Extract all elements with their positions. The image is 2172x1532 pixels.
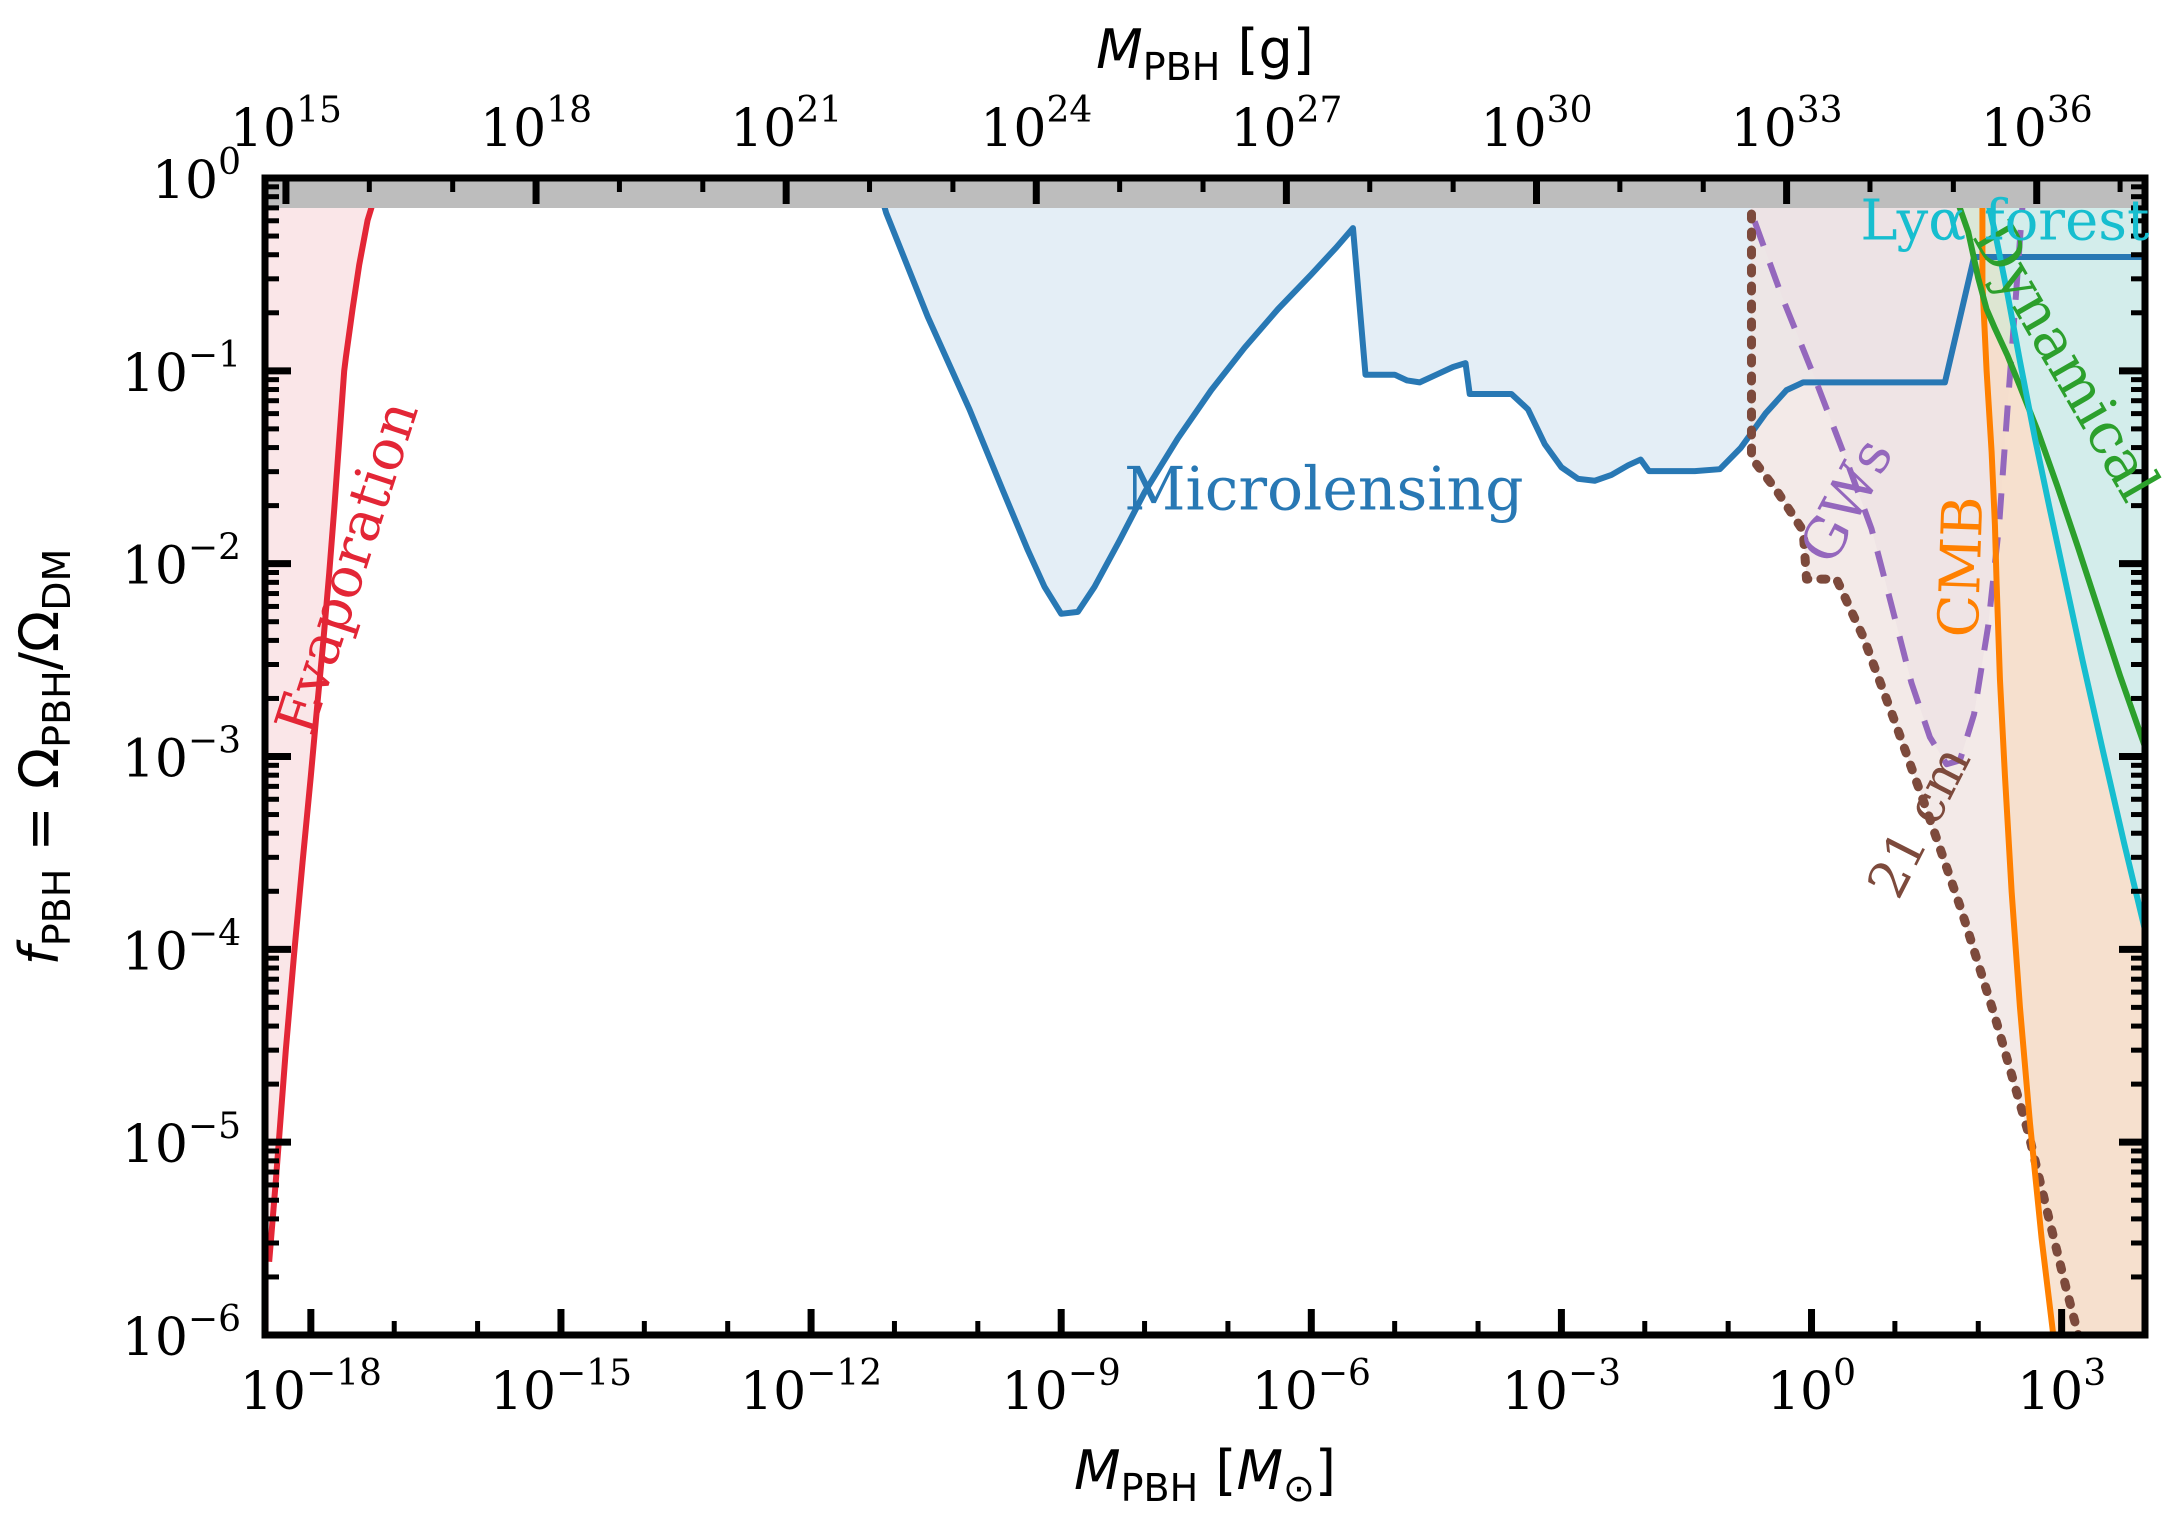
plot-svg: 10−1810−1510−1210−910−610−31001031015101… [0, 0, 2172, 1532]
label-microlensing: Microlensing [1124, 455, 1523, 525]
pbh-constraints-figure: 10−1810−1510−1210−910−610−31001031015101… [0, 0, 2172, 1532]
label-cmb: CMB [1926, 495, 1996, 639]
label-ly-forest: Lyα forest [1860, 189, 2150, 254]
